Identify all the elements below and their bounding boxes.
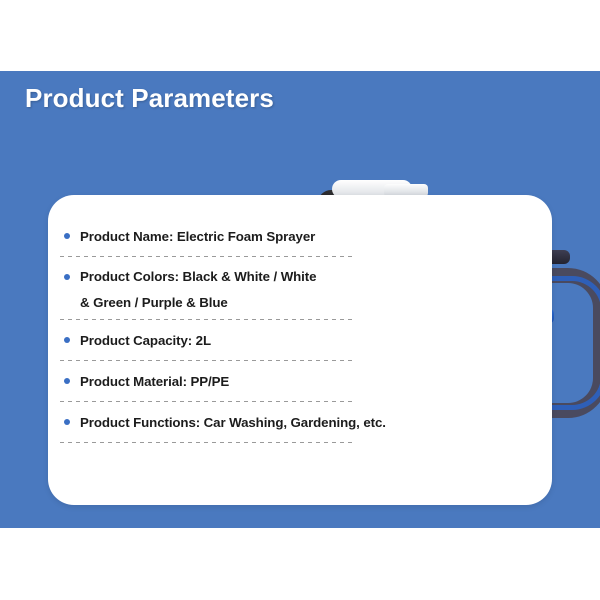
spec-row-product-name: Product Name: Electric Foam Sprayer: [60, 221, 360, 257]
bullet-icon: [64, 378, 70, 384]
list-item: Product Capacity: 2L: [60, 325, 360, 355]
spec-list: Product Name: Electric Foam Sprayer Prod…: [60, 221, 360, 448]
separator: [60, 442, 352, 443]
spec-row-product-capacity: Product Capacity: 2L: [60, 325, 360, 361]
list-item: Product Name: Electric Foam Sprayer: [60, 221, 360, 251]
list-item: Product Colors: Black & White / White: [60, 262, 360, 292]
spec-text-line-1: Product Colors: Black & White / White: [80, 267, 316, 287]
spec-text: Product Material: PP/PE: [80, 372, 229, 391]
product-parameters-slide: Product Parameters: [0, 0, 600, 600]
list-item: Product Functions: Car Washing, Gardenin…: [60, 407, 460, 437]
separator: [60, 360, 352, 361]
spec-text: Product Functions: Car Washing, Gardenin…: [80, 413, 386, 432]
spec-card: Product Name: Electric Foam Sprayer Prod…: [48, 195, 552, 505]
separator: [60, 319, 352, 320]
list-item: Product Material: PP/PE: [60, 366, 360, 396]
bullet-icon: [64, 337, 70, 343]
purple-sprayer-handle-accent: [548, 276, 600, 410]
bullet-icon: [64, 233, 70, 239]
spec-text: Product Name: Electric Foam Sprayer: [80, 227, 315, 246]
bullet-icon: [64, 419, 70, 425]
spec-text-line-2: & Green / Purple & Blue: [80, 293, 228, 313]
spec-row-product-functions: Product Functions: Car Washing, Gardenin…: [60, 407, 360, 443]
spec-row-product-colors: Product Colors: Black & White / White & …: [60, 262, 360, 320]
list-item-continuation: & Green / Purple & Blue: [60, 292, 360, 314]
bullet-icon: [64, 274, 70, 280]
page-title: Product Parameters: [25, 83, 274, 114]
separator: [60, 401, 352, 402]
spec-text: Product Capacity: 2L: [80, 331, 211, 350]
separator: [60, 256, 352, 257]
spec-row-product-material: Product Material: PP/PE: [60, 366, 360, 402]
